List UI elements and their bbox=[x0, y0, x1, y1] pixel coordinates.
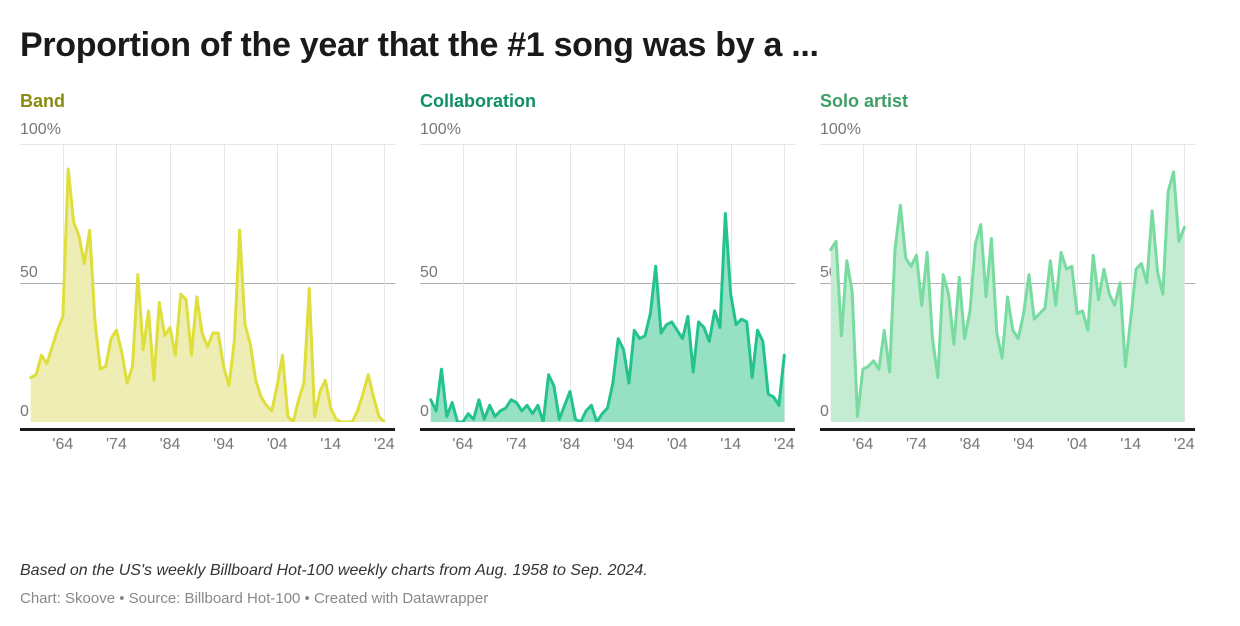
x-tick-1964: '64 bbox=[52, 436, 73, 454]
x-tick-1994: '94 bbox=[213, 436, 234, 454]
x-tick-1974: '74 bbox=[506, 436, 527, 454]
x-axis-line-solo-artist bbox=[820, 428, 1195, 431]
x-tick-2004: '04 bbox=[267, 436, 288, 454]
x-axis-line-collaboration bbox=[420, 428, 795, 431]
panel-title-collaboration: Collaboration bbox=[420, 92, 820, 110]
x-tick-2014: '14 bbox=[1120, 436, 1141, 454]
x-axis-ticks-solo-artist: '64'74'84'94'04'14'24 bbox=[820, 436, 1195, 462]
plot-inner-collaboration: 500 bbox=[420, 144, 795, 422]
chart-page: Proportion of the year that the #1 song … bbox=[0, 0, 1240, 626]
plot-area-collaboration: 500 bbox=[420, 144, 795, 422]
plot-area-band: 500 bbox=[20, 144, 395, 422]
panel-collaboration: Collaboration 100% 500 '64'74'84'94'04'1… bbox=[420, 92, 820, 462]
x-tick-2024: '24 bbox=[1174, 436, 1195, 454]
x-tick-1974: '74 bbox=[906, 436, 927, 454]
panel-title-solo-artist: Solo artist bbox=[820, 92, 1220, 110]
x-axis-line-band bbox=[20, 428, 395, 431]
panels-row: Band 100% 500 '64'74'84'94'04'14'24 Coll… bbox=[20, 92, 1220, 462]
x-tick-1964: '64 bbox=[452, 436, 473, 454]
footer: Based on the US's weekly Billboard Hot-1… bbox=[20, 561, 1220, 608]
area-fill-band bbox=[31, 169, 385, 422]
series-collaboration bbox=[420, 144, 795, 422]
panel-band: Band 100% 500 '64'74'84'94'04'14'24 bbox=[20, 92, 420, 462]
x-tick-1984: '84 bbox=[160, 436, 181, 454]
x-tick-2024: '24 bbox=[374, 436, 395, 454]
x-axis-ticks-collaboration: '64'74'84'94'04'14'24 bbox=[420, 436, 795, 462]
plot-inner-solo-artist: 500 bbox=[820, 144, 1195, 422]
footer-credit: Chart: Skoove • Source: Billboard Hot-10… bbox=[20, 590, 1220, 608]
panel-solo-artist: Solo artist 100% 500 '64'74'84'94'04'14'… bbox=[820, 92, 1220, 462]
x-tick-2014: '14 bbox=[720, 436, 741, 454]
y-axis-top-label-band: 100% bbox=[20, 122, 420, 138]
plot-inner-band: 500 bbox=[20, 144, 395, 422]
area-fill-collaboration bbox=[431, 214, 785, 423]
plot-area-solo-artist: 500 bbox=[820, 144, 1195, 422]
y-axis-top-label-collaboration: 100% bbox=[420, 122, 820, 138]
x-tick-2014: '14 bbox=[320, 436, 341, 454]
x-axis-ticks-band: '64'74'84'94'04'14'24 bbox=[20, 436, 395, 462]
page-title: Proportion of the year that the #1 song … bbox=[20, 0, 1220, 64]
x-tick-2004: '04 bbox=[667, 436, 688, 454]
x-tick-1964: '64 bbox=[852, 436, 873, 454]
x-tick-1994: '94 bbox=[613, 436, 634, 454]
panel-title-band: Band bbox=[20, 92, 420, 110]
x-tick-1974: '74 bbox=[106, 436, 127, 454]
footer-note: Based on the US's weekly Billboard Hot-1… bbox=[20, 561, 1220, 580]
x-tick-1984: '84 bbox=[560, 436, 581, 454]
x-tick-1984: '84 bbox=[960, 436, 981, 454]
x-tick-2024: '24 bbox=[774, 436, 795, 454]
x-tick-2004: '04 bbox=[1067, 436, 1088, 454]
series-solo-artist bbox=[820, 144, 1195, 422]
y-axis-top-label-solo-artist: 100% bbox=[820, 122, 1220, 138]
series-band bbox=[20, 144, 395, 422]
x-tick-1994: '94 bbox=[1013, 436, 1034, 454]
